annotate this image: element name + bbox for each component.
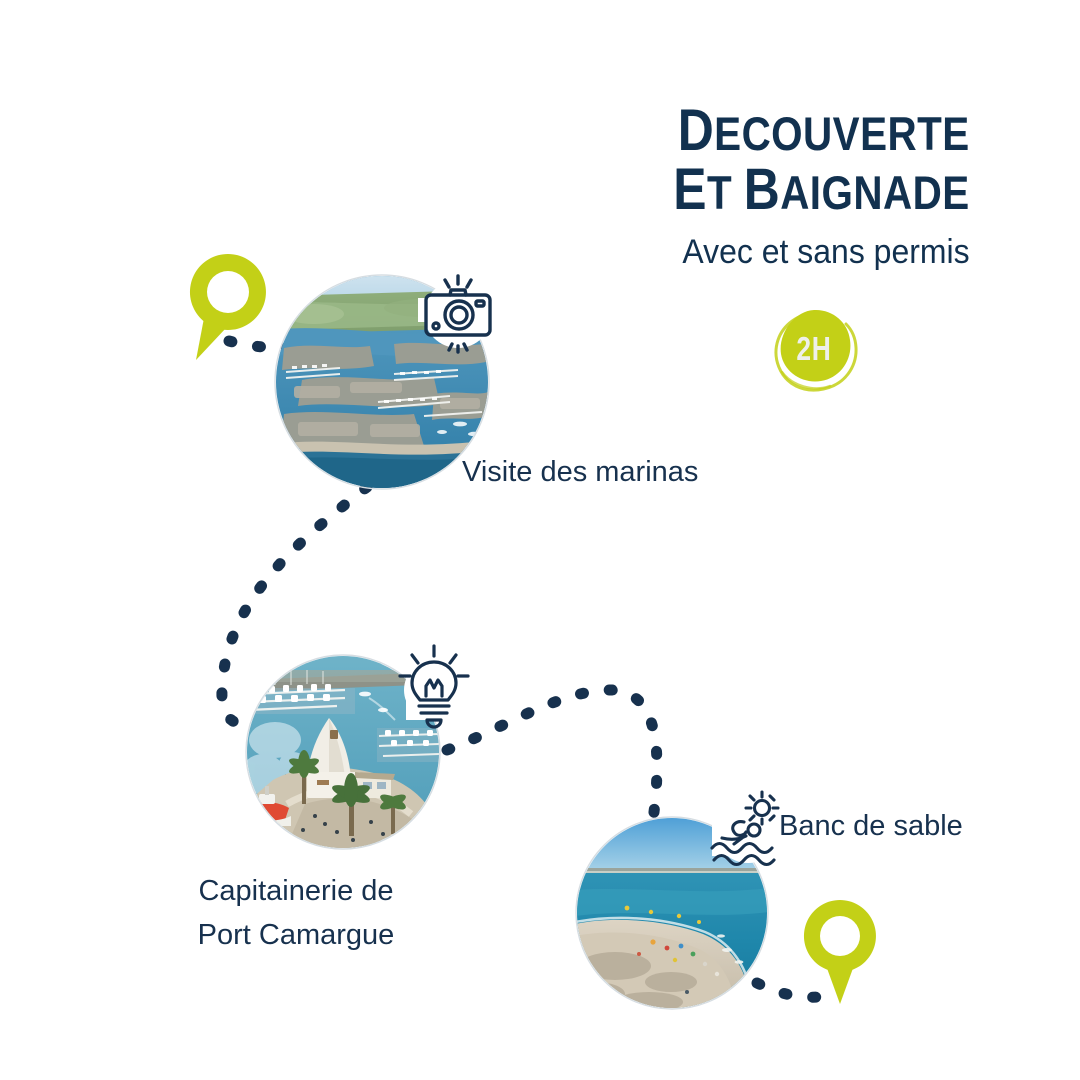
camera-icon — [412, 268, 504, 360]
header-block: DECOUVERTE ET BAIGNADE Avec et sans perm… — [625, 104, 970, 272]
stop-label-capitainerie-line1: Capitainerie de — [186, 870, 406, 914]
title-line2-capital-2: B — [744, 157, 780, 222]
map-pin-start — [186, 252, 270, 364]
title-line1-capital: D — [678, 98, 714, 163]
lightbulb-icon — [392, 642, 476, 736]
page-subtitle: Avec et sans permis — [646, 233, 970, 272]
title-line2-capital: E — [674, 157, 708, 222]
duration-badge-text: 2H — [776, 302, 853, 398]
stop-label-visite-des-marinas: Visite des marinas — [462, 451, 698, 495]
page-title-line-2: ET BAIGNADE — [674, 163, 970, 216]
duration-badge: 2H — [766, 302, 862, 398]
title-line1-rest: ECOUVERTE — [715, 107, 970, 160]
map-pin-end — [800, 898, 880, 1008]
stop-label-banc-de-sable: Banc de sable — [779, 805, 963, 849]
infographic-canvas: Visite des marinas — [0, 0, 1080, 1080]
page-title-line-1: DECOUVERTE — [674, 104, 970, 157]
stop-label-capitainerie-line2: Port Camargue — [186, 914, 406, 958]
stop-label-capitainerie: Capitainerie de Port Camargue — [186, 870, 406, 957]
title-line2-rest: T — [707, 166, 744, 219]
title-line2-rest-2: AIGNADE — [781, 166, 970, 219]
